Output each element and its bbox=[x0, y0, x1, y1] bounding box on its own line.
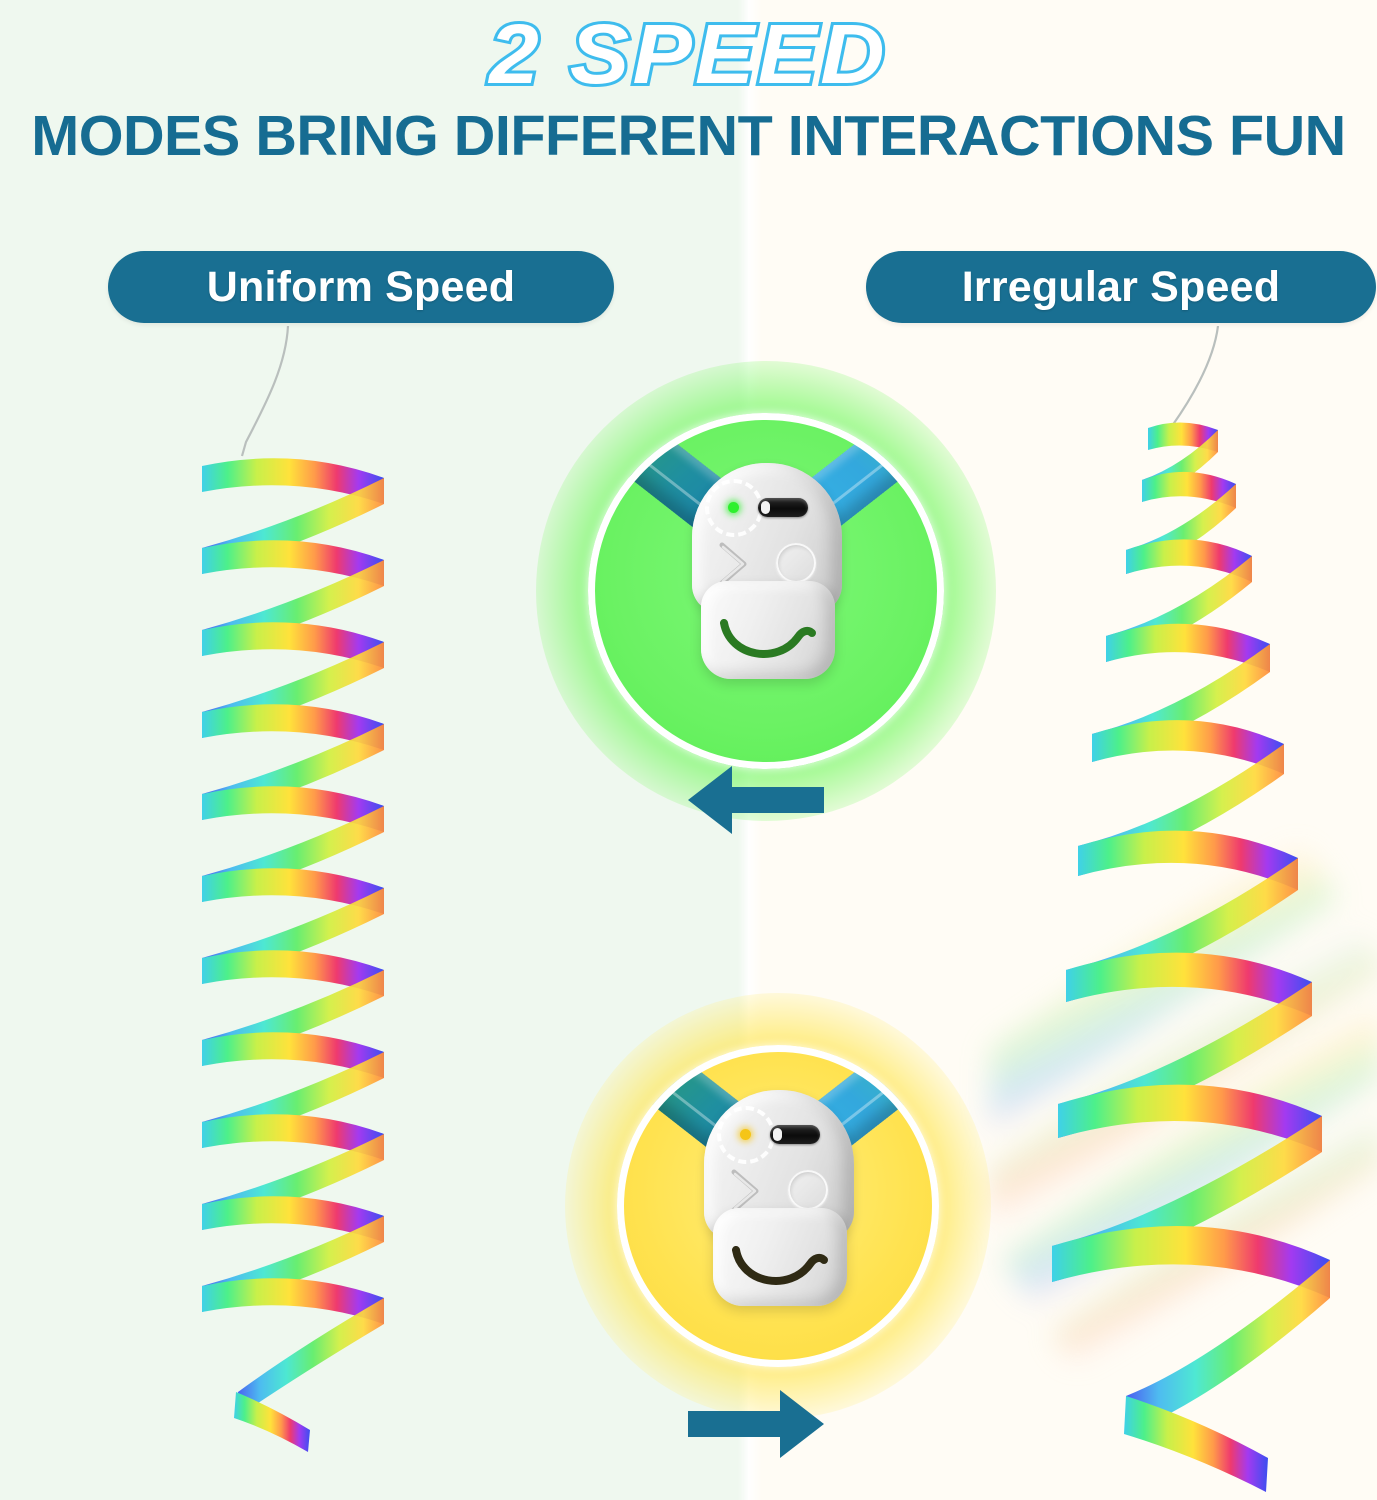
product-feature-banner: 2 SPEED MODES BRING DIFFERENT INTERACTIO… bbox=[0, 0, 1377, 1500]
toy-device-body-yellow bbox=[704, 1090, 854, 1305]
device-preview-irregular[interactable] bbox=[617, 1045, 939, 1367]
round-button-green[interactable] bbox=[776, 543, 816, 583]
device-preview-uniform[interactable] bbox=[588, 413, 944, 769]
led-indicator-yellow bbox=[740, 1129, 751, 1140]
round-button-yellow[interactable] bbox=[788, 1170, 828, 1210]
headline-title: 2 SPEED bbox=[0, 12, 1377, 96]
smile-icon-green bbox=[716, 613, 820, 669]
badge-irregular-speed[interactable]: Irregular Speed bbox=[866, 251, 1376, 323]
headline-subtitle: MODES BRING DIFFERENT INTERACTIONS FUN bbox=[0, 106, 1377, 166]
led-indicator-green bbox=[728, 502, 739, 513]
rainbow-spiral-irregular bbox=[1030, 410, 1360, 1500]
toy-device-body-green bbox=[692, 463, 842, 678]
slider-switch-green[interactable] bbox=[758, 498, 808, 517]
smile-icon-yellow bbox=[728, 1240, 832, 1296]
slider-switch-yellow[interactable] bbox=[770, 1125, 820, 1144]
badge-uniform-speed-label: Uniform Speed bbox=[207, 263, 515, 312]
badge-irregular-speed-label: Irregular Speed bbox=[962, 263, 1280, 312]
arrow-left-icon bbox=[688, 762, 824, 838]
arrow-right-icon bbox=[688, 1386, 824, 1462]
rainbow-spiral-uniform bbox=[178, 430, 408, 1470]
badge-uniform-speed[interactable]: Uniform Speed bbox=[108, 251, 614, 323]
header: 2 SPEED MODES BRING DIFFERENT INTERACTIO… bbox=[0, 0, 1377, 185]
chevron-icon-green bbox=[717, 541, 751, 587]
